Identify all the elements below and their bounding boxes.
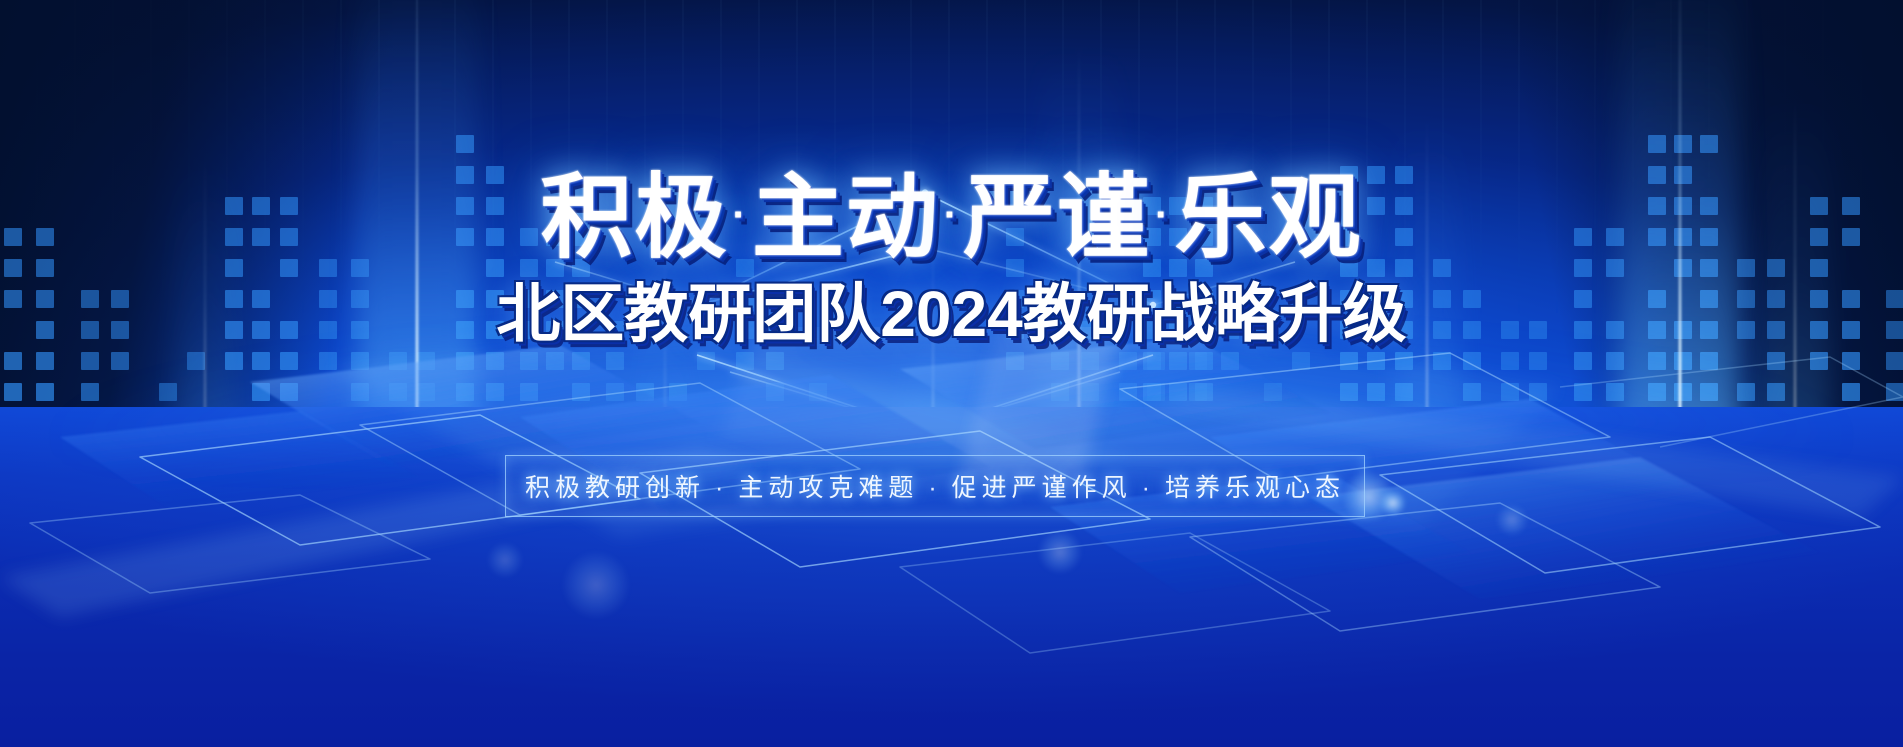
tagline-item-4: 培养乐观心态 [1165, 474, 1345, 502]
title-separator-1: · [728, 193, 751, 237]
tagline-item-2: 主动攻克难题 [738, 474, 918, 502]
tagline-separator-3: · [1132, 474, 1165, 502]
title-separator-2: · [940, 193, 963, 237]
main-title-word-4: 乐观 [1175, 167, 1363, 269]
banner-stage: 积极·主动·严谨·乐观 北区教研团队2024教研战略升级 积极教研创新·主动攻克… [0, 0, 1903, 747]
tagline-box: 积极教研创新·主动攻克难题·促进严谨作风·培养乐观心态 [505, 455, 1365, 517]
tagline-separator-2: · [918, 474, 951, 502]
tagline-item-1: 积极教研创新 [525, 474, 705, 502]
main-title: 积极·主动·严谨·乐观 [0, 172, 1903, 264]
tagline-item-3: 促进严谨作风 [952, 474, 1132, 502]
main-title-word-2: 主动 [752, 167, 940, 269]
main-title-word-1: 积极 [540, 167, 728, 269]
main-title-word-3: 严谨 [963, 167, 1151, 269]
tagline-separator-1: · [705, 474, 738, 502]
headline-group: 积极·主动·严谨·乐观 北区教研团队2024教研战略升级 [0, 172, 1903, 346]
title-separator-3: · [1151, 193, 1174, 237]
sub-title: 北区教研团队2024教研战略升级 [0, 282, 1903, 346]
perspective-tile-floor [0, 327, 1903, 747]
tagline-text: 积极教研创新·主动攻克难题·促进严谨作风·培养乐观心态 [525, 468, 1345, 504]
